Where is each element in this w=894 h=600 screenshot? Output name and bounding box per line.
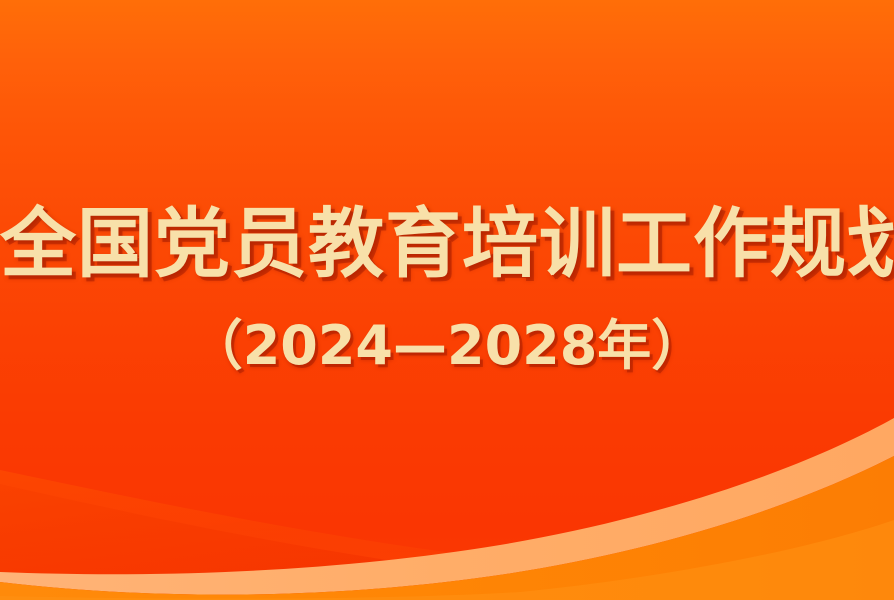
poster-canvas: 全国党员教育培训工作规划 （2024—2028年）	[0, 0, 894, 600]
background-decoration	[0, 0, 894, 600]
